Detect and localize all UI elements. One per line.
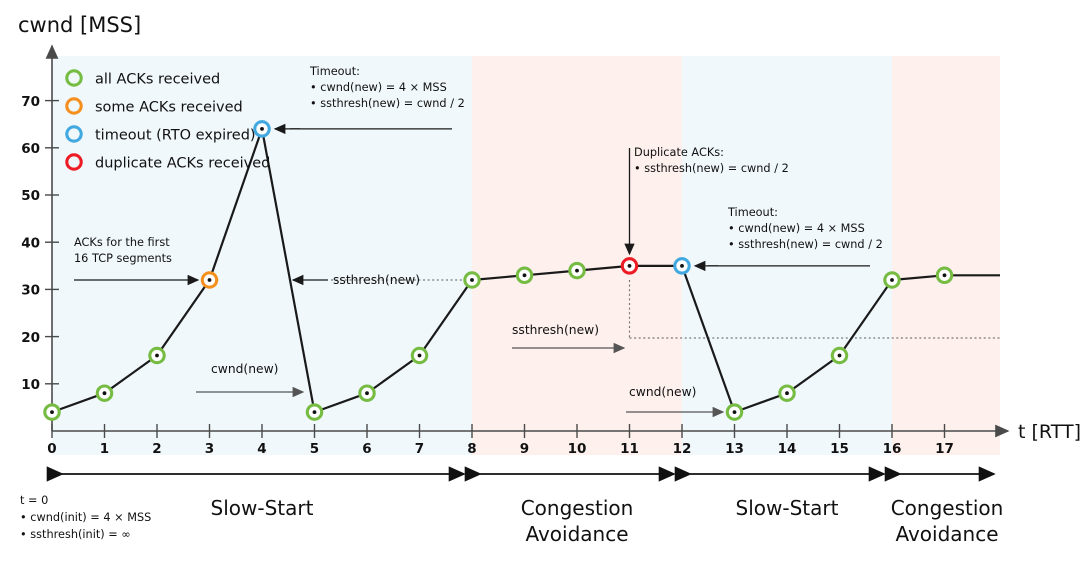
- x-tick-label: 12: [673, 441, 692, 457]
- annotation-line: • cwnd(new) = 4 × MSS: [310, 81, 447, 94]
- data-point-marker: [465, 273, 479, 287]
- data-point-marker: [97, 386, 111, 400]
- x-tick-label: 0: [47, 441, 56, 457]
- x-tick-label: 5: [310, 441, 319, 457]
- annotation-line: • ssthresh(new) = cwnd / 2: [728, 238, 883, 251]
- y-tick-label: 10: [21, 377, 40, 393]
- data-point-marker: [202, 273, 216, 287]
- annotation-line: • ssthresh(new) = cwnd / 2: [634, 162, 789, 175]
- data-point-marker: [570, 263, 584, 277]
- data-point-marker: [727, 405, 741, 419]
- x-tick-label: 4: [257, 441, 266, 457]
- phase-label-avoidance-1-line2: Avoidance: [525, 522, 628, 546]
- phase-bands: [52, 56, 1000, 455]
- legend-item-duplicate-acks: duplicate ACKs received: [67, 155, 271, 172]
- annotation-label: ssthresh(new): [512, 323, 599, 337]
- phase-labels: Slow-Start Congestion Avoidance Slow-Sta…: [211, 496, 1004, 546]
- data-point-marker: [255, 122, 269, 136]
- x-tick-label: 3: [205, 441, 214, 457]
- legend-label: timeout (RTO expired): [95, 128, 256, 144]
- y-tick-label: 50: [21, 188, 40, 204]
- x-tick-label: 7: [415, 441, 424, 457]
- annotation-label: ssthresh(new): [333, 273, 420, 287]
- legend-label: duplicate ACKs received: [95, 156, 270, 172]
- x-tick-label: 10: [568, 441, 587, 457]
- x-tick-label: 1: [100, 441, 109, 457]
- y-tick-label: 30: [21, 283, 40, 299]
- phase-label-avoidance-2-line1: Congestion: [891, 496, 1004, 520]
- x-tick-label: 9: [520, 441, 529, 457]
- init-line: t = 0: [20, 494, 48, 507]
- annotation-label: cwnd(new): [629, 385, 696, 399]
- x-tick-label: 11: [620, 441, 639, 457]
- data-point-marker: [832, 348, 846, 362]
- data-point-marker: [150, 348, 164, 362]
- band-congestion-avoidance-1: [472, 56, 682, 431]
- data-point-marker: [885, 273, 899, 287]
- annotation-label: cwnd(new): [211, 362, 278, 376]
- legend-label: some ACKs received: [95, 100, 243, 116]
- x-tick-label: 6: [362, 441, 371, 457]
- annotation-line: ACKs for the first: [74, 236, 170, 249]
- x-tick-label: 16: [883, 441, 902, 457]
- data-point-marker: [937, 268, 951, 282]
- x-axis-title: t [RTT]: [1018, 421, 1080, 443]
- annotation-line: Duplicate ACKs:: [634, 146, 724, 159]
- data-point-marker: [360, 386, 374, 400]
- x-tick-label: 14: [778, 441, 797, 457]
- x-tick-label: 15: [830, 441, 849, 457]
- x-tick-label: 8: [467, 441, 476, 457]
- data-point-marker: [622, 259, 636, 273]
- annotation-line: 16 TCP segments: [74, 252, 172, 265]
- initial-conditions: t = 0 • cwnd(init) = 4 × MSS • ssthresh(…: [20, 494, 151, 541]
- data-point-marker: [675, 259, 689, 273]
- x-tick-label: 2: [152, 441, 161, 457]
- phase-label-slow-start-2: Slow-Start: [736, 496, 839, 520]
- data-point-marker: [412, 348, 426, 362]
- annotation-line: • ssthresh(new) = cwnd / 2: [310, 97, 465, 110]
- y-tick-label: 20: [21, 330, 40, 346]
- legend-item-timeout: timeout (RTO expired): [67, 127, 256, 144]
- x-tick-label: 17: [935, 441, 954, 457]
- y-tick-label: 60: [21, 141, 40, 157]
- phase-label-avoidance-2-line2: Avoidance: [895, 522, 998, 546]
- data-point-marker: [517, 268, 531, 282]
- init-line: • ssthresh(init) = ∞: [20, 528, 131, 541]
- data-point-marker: [45, 405, 59, 419]
- legend-label: all ACKs received: [95, 72, 220, 88]
- annotation-line: Timeout:: [309, 65, 360, 78]
- phase-label-slow-start-1: Slow-Start: [211, 496, 314, 520]
- data-point-marker: [780, 386, 794, 400]
- annotation-line: Timeout:: [727, 206, 778, 219]
- y-tick-label: 70: [21, 94, 40, 110]
- band-congestion-avoidance-2: [892, 56, 1000, 431]
- y-tick-label: 40: [21, 235, 40, 251]
- x-tick-label: 13: [725, 441, 744, 457]
- init-line: • cwnd(init) = 4 × MSS: [20, 511, 151, 524]
- y-axis-title: cwnd [MSS]: [18, 13, 141, 37]
- data-point-marker: [307, 405, 321, 419]
- tcp-congestion-diagram: cwnd [MSS] t [RTT] 10 20 30 40 50 60 70: [0, 0, 1080, 567]
- phase-label-avoidance-1-line1: Congestion: [521, 496, 634, 520]
- annotation-line: • cwnd(new) = 4 × MSS: [728, 222, 865, 235]
